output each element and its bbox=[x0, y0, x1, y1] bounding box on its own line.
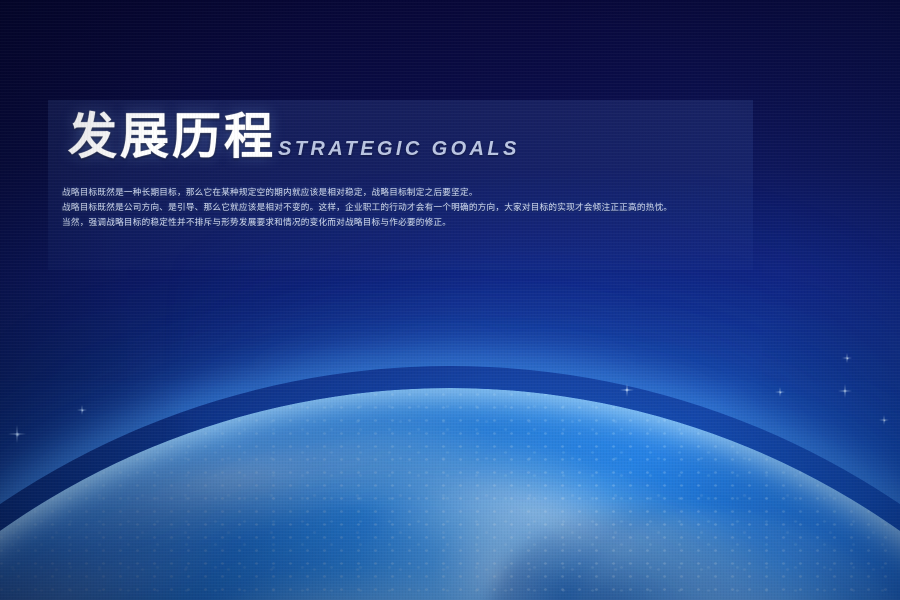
page-title: 发展历程 STRATEGIC GOALS bbox=[68, 112, 520, 161]
title-chinese: 发展历程 bbox=[68, 112, 276, 161]
body-paragraph: 战略目标既然是一种长期目标，那么它在某种规定空的期内就应该是相对稳定，战略目标制… bbox=[62, 186, 752, 231]
banner-root: 发展历程 STRATEGIC GOALS 战略目标既然是一种长期目标，那么它在某… bbox=[0, 0, 900, 600]
body-line: 当然，强调战略目标的稳定性并不排斥与形势发展要求和情况的变化而对战略目标与作必要… bbox=[62, 216, 752, 231]
body-line: 战略目标既然是一种长期目标，那么它在某种规定空的期内就应该是相对稳定，战略目标制… bbox=[62, 186, 752, 201]
title-english-subtitle: STRATEGIC GOALS bbox=[278, 138, 520, 161]
body-line: 战略目标既然是公司方向、是引导、那么它就应该是相对不变的。这样，企业职工的行动才… bbox=[62, 201, 752, 216]
